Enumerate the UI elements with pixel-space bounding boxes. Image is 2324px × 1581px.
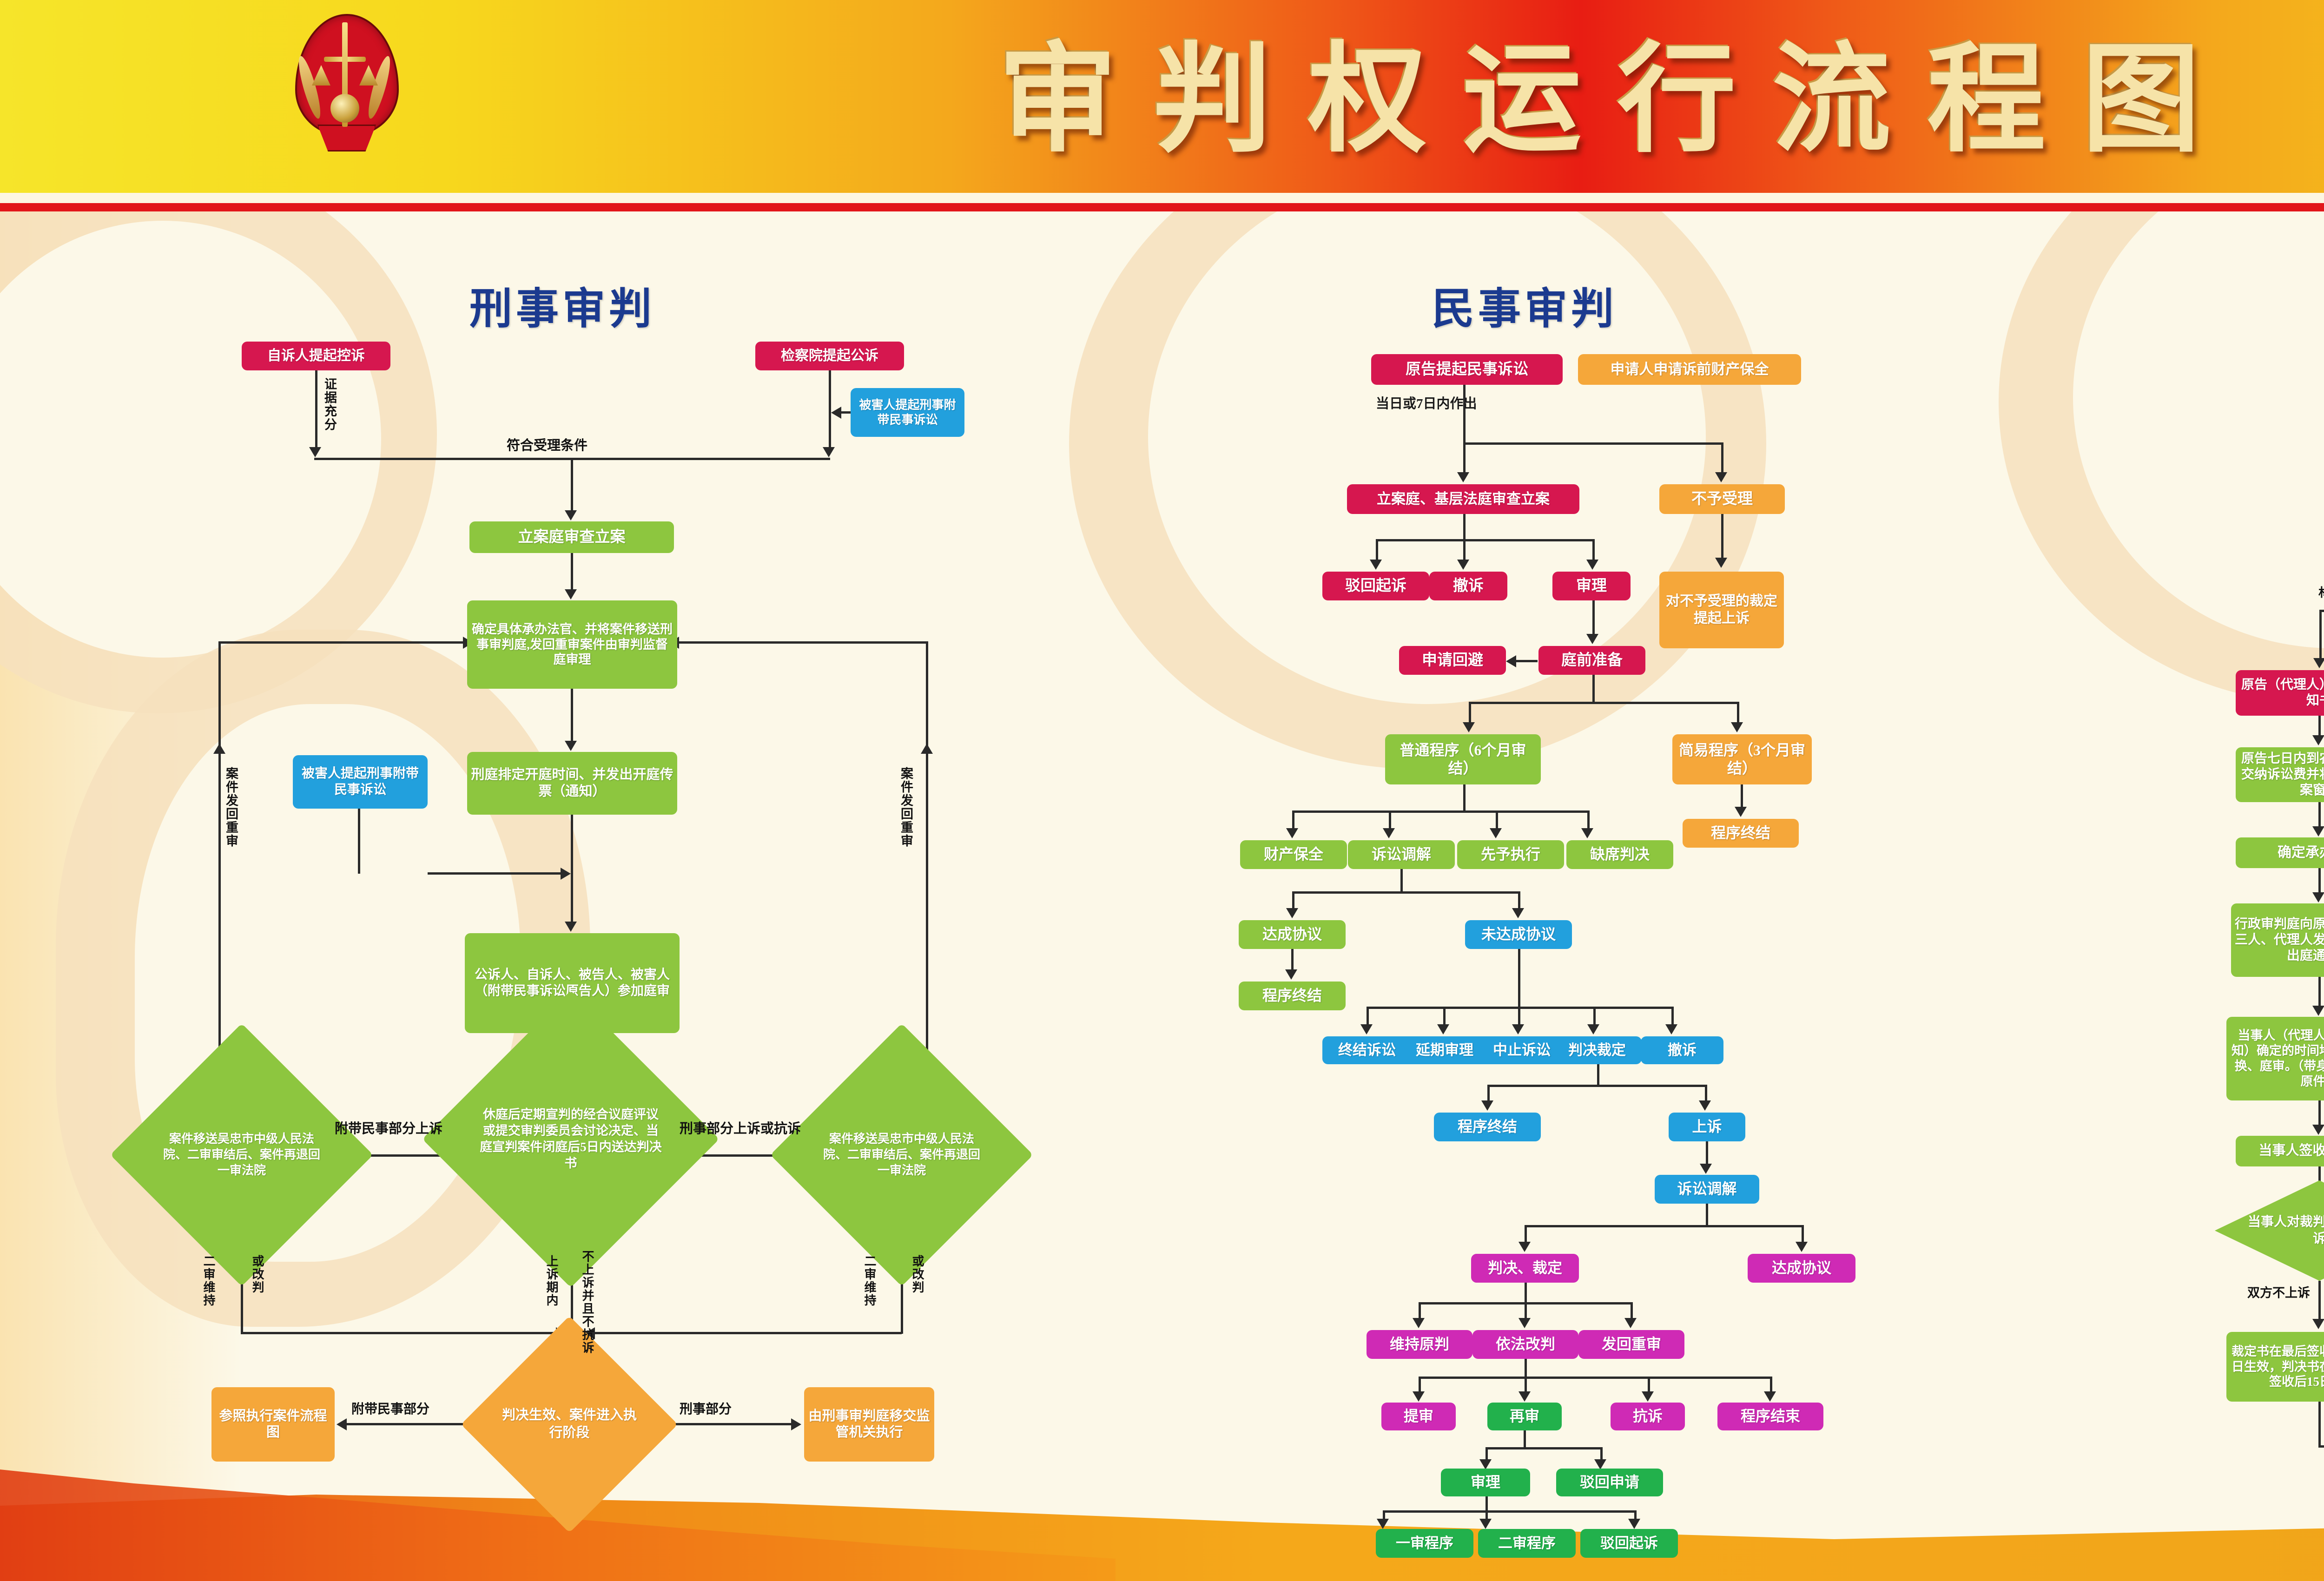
civil-arrow-appeal: [1699, 1100, 1711, 1111]
civil-arrow-ts3: [1642, 1391, 1654, 1402]
admin-line-hearing-down: [2318, 1100, 2321, 1127]
admin-arrow-hearing-down: [2312, 1125, 2324, 1135]
civil-arrow-no-agree: [1512, 908, 1524, 918]
criminal-node-assign-judge[interactable]: 确定具体承办法官、并将案件移送刑事审判庭,发回重审案件由审判监督庭审理: [467, 600, 677, 689]
admin-line-summons-down: [2318, 977, 2321, 1008]
civil-line-filing-split: [1376, 539, 1594, 541]
civil-node-trial-2[interactable]: 审理: [1441, 1469, 1530, 1496]
criminal-caption-no-appeal: 不上诉并且不抗诉: [579, 1250, 596, 1354]
civil-line-noagree-down: [1518, 949, 1520, 1008]
criminal-arrow-filing-down: [565, 589, 577, 599]
civil-line-judgment-down: [1597, 1064, 1599, 1087]
criminal-line-assign-down: [571, 689, 573, 745]
criminal-arrow-assign-down: [565, 741, 577, 751]
criminal-caption-accept: 符合受理条件: [507, 435, 588, 454]
criminal-caption-reverse-left: 或改判: [249, 1255, 266, 1294]
civil-node-reject-suit-row[interactable]: 驳回起诉: [1580, 1529, 1678, 1558]
civil-line-ordinary-split: [1292, 810, 1590, 813]
civil-node-judgment-ruling-2[interactable]: 判决、裁定: [1471, 1254, 1579, 1283]
civil-node-no-agreement[interactable]: 未达成协议: [1465, 920, 1572, 949]
civil-node-preservation-request[interactable]: 申请人申请诉前财产保全: [1578, 354, 1801, 385]
page-title: 审判权运行流程图: [688, 24, 2324, 178]
civil-arrow-na-3: [1512, 1024, 1524, 1034]
civil-node-remand-retrial[interactable]: 发回重审: [1578, 1330, 1684, 1359]
criminal-line-self-down: [315, 370, 317, 452]
poster-canvas: [0, 211, 2324, 1581]
civil-arrow-judgment2: [1519, 1242, 1531, 1252]
criminal-caption-evidence: 证据充分: [321, 377, 339, 431]
criminal-decision-execution[interactable]: 判决生效、案件进入执行阶段: [493, 1348, 646, 1501]
civil-node-protest[interactable]: 抗诉: [1611, 1403, 1685, 1430]
civil-arrow-to-filing: [1457, 472, 1469, 482]
civil-line-trial2-down: [1486, 1496, 1488, 1512]
criminal-decision-verdict-label: 休庭后定期宣判的经合议庭评议或提交审判委员会讨论决定、当庭宣判案件闭庭后5日内送…: [466, 1107, 676, 1172]
admin-decision-may-appeal[interactable]: 当事人对裁判不服可以上诉: [2215, 1180, 2324, 1281]
court-emblem-icon: [295, 14, 395, 149]
admin-arrow-noappeal-down: [2312, 1319, 2324, 1329]
civil-line-reject-to-appeal: [1721, 514, 1723, 561]
admin-line-accept-left-down: [2319, 610, 2322, 662]
criminal-caption-uphold-left: 二审维持: [200, 1255, 217, 1307]
civil-line-recusal: [1514, 660, 1538, 662]
admin-line-noappeal-down: [2318, 1281, 2321, 1322]
civil-node-recusal-request[interactable]: 申请回避: [1399, 646, 1506, 675]
civil-line-ordinary-down: [1463, 784, 1466, 811]
civil-line-mediation-down: [1400, 869, 1403, 893]
criminal-line-accept-down: [571, 458, 573, 514]
admin-node-receive-notice[interactable]: 原告（代理人）签收受理通知书: [2236, 670, 2324, 716]
criminal-decision-transfer-left[interactable]: 案件移送吴忠市中级人民法院、二审审结后、案件再退回一审法院: [149, 1062, 335, 1248]
civil-arrow-ord-3: [1490, 828, 1502, 838]
criminal-arrow-victim-right: [561, 868, 571, 880]
civil-line-trial2-split: [1383, 1510, 1636, 1513]
civil-line-mediation-split: [1292, 891, 1520, 894]
civil-line-med2-down: [1706, 1204, 1708, 1227]
civil-arrow-p3: [1628, 1519, 1640, 1529]
civil-node-reject-suit[interactable]: 驳回起诉: [1322, 572, 1429, 600]
criminal-caption-remand-left: 案件发回重审: [222, 767, 240, 848]
civil-node-case-filing[interactable]: 立案庭、基层法庭审查立案: [1347, 484, 1579, 514]
civil-node-agreement-reached[interactable]: 达成协议: [1239, 920, 1346, 949]
civil-arrow-agreement2: [1796, 1242, 1808, 1252]
criminal-node-transfer-custody[interactable]: 由刑事审判庭移交监管机关执行: [804, 1387, 934, 1462]
criminal-node-refer-exec-flow[interactable]: 参照执行案件流程图: [211, 1387, 335, 1462]
criminal-caption-exec-criminal: 刑事部分: [680, 1399, 732, 1417]
criminal-decision-transfer-right[interactable]: 案件移送吴忠市中级人民法院、二审审结后、案件再退回一审法院: [809, 1062, 995, 1248]
criminal-node-victim-civil-claim-top[interactable]: 被害人提起刑事附带民事诉讼: [851, 388, 964, 437]
civil-node-simplified-procedure[interactable]: 简易程序（3个月审结）: [1672, 734, 1812, 784]
civil-arrow-revise: [1519, 1318, 1531, 1328]
admin-line-judge-down: [2318, 868, 2321, 895]
civil-arrow-to-reject: [1715, 472, 1727, 482]
civil-arrow-rt2: [1594, 1459, 1606, 1469]
civil-arrow-simplified: [1731, 722, 1743, 732]
criminal-caption-uphold-right: 二审维持: [861, 1255, 878, 1307]
civil-node-default-judgment[interactable]: 缺席判决: [1566, 840, 1673, 869]
civil-node-procedure-end[interactable]: 程序终结: [1434, 1113, 1541, 1141]
civil-arrow-recusal: [1506, 655, 1516, 667]
criminal-decision-transfer-left-label: 案件移送吴忠市中级人民法院、二审审结后、案件再退回一审法院: [149, 1131, 335, 1178]
civil-node-withdraw-2[interactable]: 撤诉: [1641, 1036, 1723, 1064]
criminal-caption-exec-civil: 附带民事部分: [351, 1399, 429, 1417]
criminal-caption-remand-right: 案件发回重审: [897, 767, 915, 848]
civil-arrow-na-2: [1437, 1024, 1449, 1034]
admin-line-notice-down: [2318, 716, 2321, 738]
civil-node-first-instance-procedure-row[interactable]: 一审程序: [1376, 1529, 1473, 1558]
criminal-arrow-schedule-down: [565, 922, 577, 932]
civil-line-judgment-split: [1487, 1085, 1707, 1087]
criminal-node-schedule-hearing[interactable]: 刑庭排定开庭时间、并发出开庭传票（通知）: [467, 752, 677, 815]
civil-arrow-na-5: [1665, 1024, 1677, 1034]
criminal-line-victim-down: [358, 809, 360, 874]
civil-node-procedure-end-mediation[interactable]: 程序终结: [1239, 982, 1346, 1010]
admin-arrow-accept-left-down: [2313, 658, 2324, 668]
criminal-decision-execution-label: 判决生效、案件进入执行阶段: [493, 1407, 646, 1442]
civil-line-filing-down: [1463, 514, 1466, 541]
civil-arrow-end-procedure: [1481, 1100, 1493, 1111]
civil-arrow-rt1: [1479, 1459, 1492, 1469]
civil-node-file-suit[interactable]: 原告提起民事诉讼: [1371, 354, 1563, 385]
civil-line-med2-split: [1525, 1225, 1803, 1227]
admin-node-pay-fee[interactable]: 原告七日内到农业银行网点交纳诉讼费并将票据交回立案窗口: [2236, 747, 2324, 802]
admin-arrow-judge-down: [2312, 892, 2324, 902]
admin-arrow-fee-down: [2312, 826, 2324, 837]
civil-caption-within-7days: 当日或7日内作出: [1376, 393, 1477, 412]
criminal-caption-reverse-right: 或改判: [909, 1255, 926, 1294]
criminal-caption-in-period: 上诉期内: [543, 1255, 560, 1307]
civil-node-appeal-against-rejection[interactable]: 对不予受理的裁定提起上诉: [1659, 572, 1784, 648]
civil-arrow-ts1: [1413, 1391, 1425, 1402]
criminal-arrow-exec-criminal: [791, 1418, 801, 1430]
civil-line-split-right: [1721, 442, 1723, 476]
civil-node-terminate-litigation[interactable]: 终结诉讼: [1322, 1036, 1412, 1064]
civil-line-trial-down: [1592, 600, 1595, 638]
civil-line-prep-down: [1592, 675, 1595, 704]
civil-arrow-ord-2: [1383, 828, 1395, 838]
admin-node-assign-judge[interactable]: 确定承办法官: [2236, 837, 2324, 868]
criminal-line-victim-right: [428, 872, 563, 875]
civil-node-mediation-2[interactable]: 诉讼调解: [1655, 1175, 1759, 1204]
criminal-line-remand-right-top: [677, 641, 928, 644]
civil-line-uphold-down: [1525, 1359, 1527, 1378]
civil-arrow-reject-to-appeal: [1715, 558, 1727, 568]
civil-node-uphold-original[interactable]: 维持原判: [1367, 1330, 1472, 1359]
criminal-arrow-remand-right-up: [921, 744, 933, 754]
banner-cream-stripe: [0, 193, 2324, 203]
civil-arrow-withdraw: [1457, 560, 1469, 570]
admin-line-fee-down: [2318, 802, 2321, 829]
civil-arrow-agree: [1286, 908, 1298, 918]
criminal-line-remand-left-top: [218, 641, 467, 644]
civil-arrow-na-4: [1587, 1024, 1599, 1034]
criminal-decision-verdict[interactable]: 休庭后定期宣判的经合议庭评议或提交审判委员会讨论决定、当庭宣判案件闭庭后5日内送…: [466, 1034, 676, 1244]
civil-node-pretrial-prep[interactable]: 庭前准备: [1538, 646, 1645, 675]
admin-caption-accept-ok: 材料齐全、可立即决定受理: [2318, 583, 2324, 600]
criminal-line-remand-right-rail: [926, 641, 928, 1064]
criminal-arrow-remand-left-up: [213, 744, 225, 754]
civil-node-trial[interactable]: 审理: [1552, 572, 1631, 600]
civil-arrow-ts2: [1519, 1391, 1531, 1402]
section-title-criminal: 刑事审判: [469, 274, 655, 336]
civil-node-appeal[interactable]: 上诉: [1669, 1113, 1745, 1141]
civil-node-second-instance-procedure-row[interactable]: 二审程序: [1478, 1529, 1576, 1558]
criminal-arrow-public-down: [823, 447, 835, 457]
civil-arrow-ord-4: [1581, 828, 1593, 838]
civil-node-simplified-end[interactable]: 程序终结: [1683, 819, 1799, 848]
criminal-caption-criminal-appeal: 刑事部分上诉或抗诉: [680, 1118, 801, 1137]
civil-node-judgment-ruling[interactable]: 判决裁定: [1552, 1036, 1642, 1064]
civil-arrow-simplified-down: [1735, 807, 1747, 817]
civil-node-ordinary-procedure[interactable]: 普通程序（6个月审结）: [1385, 734, 1541, 784]
admin-node-effective-dates[interactable]: 裁定书在最后签收一方签收后10日生效，判决书在最后签收一方签收后15日生效。: [2226, 1332, 2324, 1402]
admin-node-issue-summons[interactable]: 行政审判庭向原告、被告、第三人、代理人发出开庭传票、出庭通知书: [2231, 903, 2324, 977]
civil-arrow-ord-1: [1286, 828, 1298, 838]
civil-node-bring-for-retrial[interactable]: 提审: [1381, 1403, 1456, 1430]
civil-line-split-left: [1463, 442, 1466, 476]
civil-arrow-p2: [1479, 1519, 1492, 1529]
civil-line-retrial-down: [1524, 1430, 1526, 1449]
civil-node-postpone-trial[interactable]: 延期审理: [1400, 1036, 1489, 1064]
civil-node-property-preservation[interactable]: 财产保全: [1240, 840, 1347, 869]
civil-line-retrial2-split: [1486, 1447, 1602, 1449]
civil-arrow-ordinary: [1463, 722, 1475, 732]
civil-arrow-reject-suit: [1370, 560, 1382, 570]
admin-node-attend-hearing[interactable]: 当事人（代理人）按传票（通知）确定的时间地点参加证据交换、庭审。（带身份证件及证…: [2226, 1017, 2324, 1100]
criminal-decision-transfer-right-label: 案件移送吴忠市中级人民法院、二审审结后、案件再退回一审法院: [809, 1131, 995, 1178]
criminal-arrow-victim-to-trunk: [831, 407, 841, 419]
criminal-arrow-exec-civil: [337, 1418, 347, 1430]
criminal-arrow-accept-down: [565, 510, 577, 520]
criminal-node-self-prosecution[interactable]: 自诉人提起控诉: [242, 342, 390, 370]
criminal-node-public-prosecution[interactable]: 检察院提起公诉: [755, 342, 904, 370]
admin-line-effective-right: [2318, 1445, 2324, 1448]
civil-arrow-ts4: [1764, 1391, 1776, 1402]
civil-arrow-p1: [1377, 1519, 1389, 1529]
civil-node-withdraw[interactable]: 撤诉: [1429, 572, 1507, 600]
civil-node-retrial[interactable]: 再审: [1487, 1403, 1562, 1430]
admin-caption-no-appeal: 双方不上诉: [2247, 1283, 2310, 1301]
admin-arrow-summons-down: [2312, 1006, 2324, 1016]
admin-line-effective-down: [2318, 1402, 2321, 1447]
civil-arrow-appeal-down: [1700, 1164, 1712, 1174]
civil-arrow-uphold: [1413, 1318, 1425, 1328]
civil-arrow-na-1: [1360, 1024, 1373, 1034]
civil-node-revise-judgment[interactable]: 依法改判: [1472, 1330, 1578, 1359]
civil-node-not-accepted[interactable]: 不予受理: [1659, 484, 1785, 514]
criminal-node-case-filing[interactable]: 立案庭审查立案: [469, 521, 674, 553]
criminal-line-filing-down: [571, 553, 573, 594]
civil-arrow-agree-down: [1285, 969, 1297, 980]
criminal-arrow-self-down: [309, 447, 321, 457]
civil-node-agreement-reached-2[interactable]: 达成协议: [1748, 1254, 1855, 1283]
banner-red-line: [0, 203, 2324, 211]
civil-arrow-remand: [1624, 1318, 1637, 1328]
criminal-caption-civil-appeal: 附带民事部分上诉: [335, 1118, 442, 1137]
criminal-line-schedule-down: [571, 815, 573, 926]
criminal-node-victim-civil-claim[interactable]: 被害人提起刑事附带民事诉讼: [293, 755, 428, 809]
civil-line-split-top: [1463, 442, 1723, 445]
section-title-civil: 民事审判: [1432, 274, 1618, 336]
civil-node-advance-execution[interactable]: 先予执行: [1457, 840, 1564, 869]
civil-arrow-trial: [1586, 560, 1598, 570]
poster-root: 审判权运行流程图 刑事审判 民事审判 行政审判 自诉人提起控诉 检察院提起公诉 …: [0, 0, 2324, 1581]
civil-arrow-trial-down: [1586, 634, 1598, 644]
civil-line-retrial-split: [1419, 1377, 1772, 1379]
admin-arrow-notice-down: [2312, 735, 2324, 745]
criminal-line-remand-left-rail: [218, 641, 221, 1064]
civil-line-j2-down: [1525, 1283, 1527, 1304]
admin-decision-may-appeal-label: 当事人对裁判不服可以上诉: [2215, 1214, 2324, 1248]
civil-node-reject-application[interactable]: 驳回申请: [1556, 1469, 1663, 1496]
civil-line-prep-split: [1469, 702, 1738, 704]
civil-node-procedure-finish[interactable]: 程序结束: [1717, 1403, 1823, 1430]
admin-node-sign-documents[interactable]: 当事人签收裁判文书: [2236, 1136, 2324, 1166]
civil-node-mediation[interactable]: 诉讼调解: [1348, 840, 1455, 869]
